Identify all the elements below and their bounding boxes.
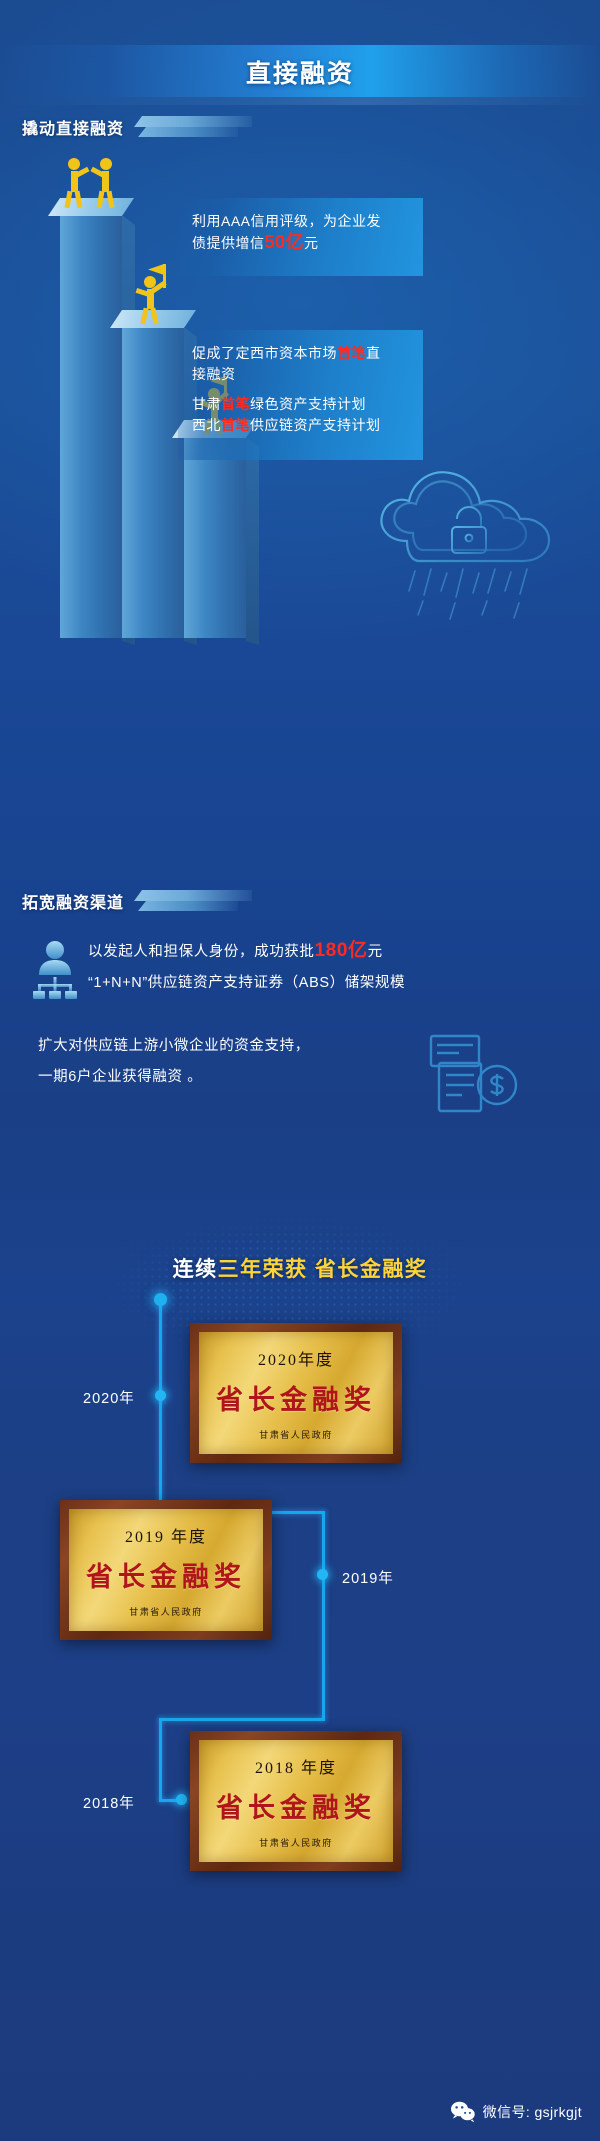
wechat-id-label: 微信号: gsjrkgjt: [483, 2102, 582, 2122]
awards-title: 连续三年荣获 省长金融奖: [0, 1253, 600, 1283]
award-plaque-2018: 2018 年度 省长金融奖 甘肃省人民政府: [190, 1731, 402, 1871]
bar-step-2: [122, 320, 184, 638]
awards-title-highlight-1: 三年荣获: [218, 1258, 308, 1281]
paragraph-abs-approval: 以发起人和担保人身份，成功获批180亿元 “1+N+N”供应链资产支持证券（AB…: [88, 935, 405, 999]
highlight-180yi: 180亿: [315, 940, 368, 961]
footer-wechat: 微信号: gsjrkgjt: [450, 2101, 582, 2123]
s2-p2-line1: 扩大对供应链上游小微企业的资金支持，: [38, 1031, 310, 1062]
callout-first-transactions: 促成了定西市资本市场首笔直 接融资 甘肃首笔绿色资产支持计划 西北首笔供应链资产…: [178, 330, 423, 460]
figure-with-flag: [130, 268, 178, 324]
plaque-2020-org: 甘肃省人民政府: [259, 1428, 333, 1441]
wechat-icon: [450, 2101, 476, 2123]
timeline-start-dot: [154, 1293, 167, 1306]
timeline-node-2020: [155, 1390, 166, 1401]
award-plaque-2019: 2019 年度 省长金融奖 甘肃省人民政府: [60, 1500, 272, 1640]
page-title: 直接融资: [0, 48, 600, 96]
plaque-2020-year: 2020年度: [258, 1346, 334, 1370]
plaque-2020-award-name: 省长金融奖: [216, 1378, 376, 1417]
section2-label-text: 拓宽融资渠道: [22, 889, 124, 913]
cloud-lock-decoration: [355, 445, 585, 655]
plaque-2018-org: 甘肃省人民政府: [259, 1836, 333, 1849]
section-label-leverage-direct-financing: 撬动直接融资: [22, 114, 254, 140]
s2-p1-line2: “1+N+N”供应链资产支持证券（ABS）储架规模: [88, 968, 405, 999]
figure-handshake-left: [62, 158, 88, 208]
highlight-shoubi-2: 首笔: [221, 396, 250, 412]
callout2-line4: 西北首笔供应链资产支持计划: [192, 415, 413, 436]
callout1-line2: 债提供增信50亿元: [192, 232, 413, 254]
callout2-line3: 甘肃首笔绿色资产支持计划: [192, 394, 413, 415]
timeline-segment-vertical-1: [159, 1299, 162, 1511]
award-plaque-2020: 2020年度 省长金融奖 甘肃省人民政府: [190, 1323, 402, 1463]
org-chart-person-icon: [30, 939, 80, 1001]
timeline-node-2019: [317, 1569, 328, 1580]
highlight-50yi: 50亿: [265, 232, 305, 252]
awards-title-highlight-2: 省长金融奖: [315, 1258, 428, 1281]
callout2-line1: 促成了定西市资本市场首笔直: [192, 343, 413, 364]
s2-p1-line1: 以发起人和担保人身份，成功获批180亿元: [88, 935, 405, 968]
section-label-expand-financing-channels: 拓宽融资渠道: [22, 888, 254, 914]
plaque-2019-org: 甘肃省人民政府: [129, 1605, 203, 1618]
bar-step-3: [60, 208, 122, 638]
year-label-2018: 2018年: [83, 1792, 135, 1813]
paragraph-smes-funding: 扩大对供应链上游小微企业的资金支持， 一期6户企业获得融资 。: [38, 1031, 310, 1093]
figure-handshake-right: [94, 158, 120, 208]
document-money-icon: [425, 1033, 521, 1115]
bar-step-1: [184, 430, 246, 638]
plaque-2019-award-name: 省长金融奖: [86, 1555, 246, 1594]
callout-aaa-credit-rating: 利用AAA信用评级，为企业发 债提供增信50亿元: [178, 198, 423, 276]
awards-section: 连续三年荣获 省长金融奖 2020年 2020年度 省长金融奖 甘肃省人民政府 …: [0, 1175, 600, 2055]
plaque-2018-award-name: 省长金融奖: [216, 1786, 376, 1825]
s2-p2-line2: 一期6户企业获得融资 。: [38, 1062, 310, 1093]
section1-label-text: 撬动直接融资: [22, 115, 124, 139]
timeline-segment-horizontal-2: [159, 1718, 325, 1721]
year-label-2020: 2020年: [83, 1387, 135, 1408]
plaque-2018-year: 2018 年度: [255, 1754, 337, 1778]
ribbon-decoration-1: [134, 114, 254, 140]
plaque-2019-year: 2019 年度: [125, 1523, 207, 1547]
ribbon-decoration-2: [134, 888, 254, 914]
year-label-2019: 2019年: [342, 1567, 394, 1588]
cloud-security-icon: [355, 445, 585, 655]
callout1-line1: 利用AAA信用评级，为企业发: [192, 211, 413, 232]
highlight-shoubi-3: 首笔: [221, 417, 250, 433]
timeline-segment-vertical-3: [159, 1718, 162, 1802]
callout2-line2: 接融资: [192, 364, 413, 385]
timeline-node-2018: [176, 1794, 187, 1805]
timeline-segment-vertical-2: [322, 1511, 325, 1721]
highlight-shoubi-1: 首笔: [337, 345, 366, 361]
